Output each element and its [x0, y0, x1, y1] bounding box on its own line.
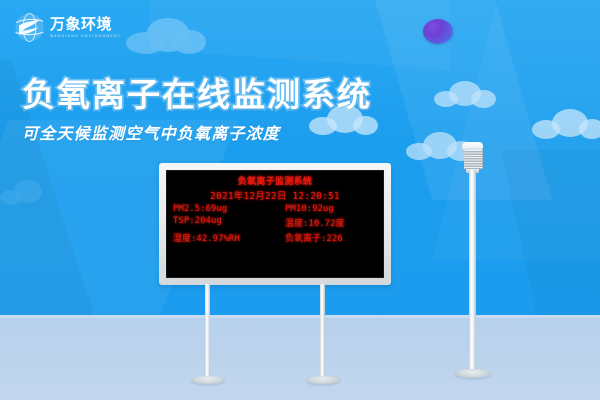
sky-facet-right-3 [501, 150, 600, 330]
led-readings-grid: PM2.5:69ug PM10:92ug TSP:204ug 温度:10.72度… [167, 204, 383, 244]
led-datetime: 2021年12月22日 12:20:51 [167, 188, 383, 202]
ground-plane [0, 315, 600, 400]
reading-tsp: TSP:204ug [173, 216, 275, 229]
led-billboard[interactable]: 负氧离子监测系统 2021年12月22日 12:20:51 PM2.5:69ug… [159, 163, 391, 285]
reading-pm25: PM2.5:69ug [173, 204, 275, 214]
reading-pm10: PM10:92ug [275, 204, 377, 214]
billboard-base-left [191, 376, 225, 384]
poster-canvas: 万象环境 WANXIANG ENVIRONMENT 负氧离子在线监测系统 可全天… [0, 0, 600, 400]
sky-facet-top [150, 0, 450, 70]
billboard-leg-left [205, 284, 210, 380]
led-screen: 负氧离子监测系统 2021年12月22日 12:20:51 PM2.5:69ug… [166, 170, 384, 278]
sensor-cap [462, 142, 483, 150]
purple-balloon-icon [423, 19, 453, 44]
globe-swoosh-icon [14, 12, 45, 43]
billboard-leg-right [320, 284, 325, 380]
brand-name-cn: 万象环境 [50, 17, 121, 32]
reading-temperature: 温度:10.72度 [275, 216, 377, 229]
billboard-base-right [306, 376, 340, 384]
page-title: 负氧离子在线监测系统 [22, 68, 372, 116]
reading-humidity: 湿度:42.97%RH [173, 231, 275, 244]
brand-logo[interactable]: 万象环境 WANXIANG ENVIRONMENT [14, 12, 121, 43]
sensor-pole [469, 170, 476, 373]
air-quality-sensor-icon [459, 142, 486, 173]
reading-anion: 负氧离子:226 [275, 231, 377, 244]
sensor-base-plate [455, 369, 491, 378]
led-screen-title: 负氧离子监测系统 [167, 174, 383, 187]
page-subtitle: 可全天候监测空气中负氧离子浓度 [22, 120, 280, 144]
sky-facet-right-2 [433, 0, 600, 260]
sensor-radiation-shield [464, 150, 483, 169]
brand-name-en: WANXIANG ENVIRONMENT [50, 35, 121, 38]
horizon-line [0, 315, 600, 318]
